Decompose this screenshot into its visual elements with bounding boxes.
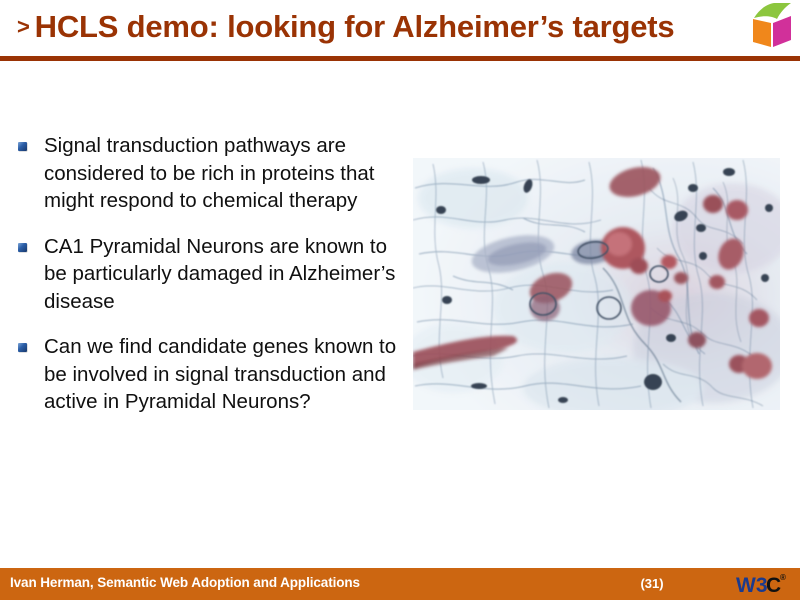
page-number: (31): [630, 576, 674, 591]
list-item: Signal transduction pathways are conside…: [18, 132, 398, 215]
list-item: CA1 Pyramidal Neurons are known to be pa…: [18, 233, 398, 316]
w3c-cube-logo: [750, 2, 794, 50]
slide-body: Signal transduction pathways are conside…: [0, 62, 800, 562]
slide-header: >HCLS demo: looking for Alzheimer’s targ…: [0, 0, 800, 62]
page-title: >HCLS demo: looking for Alzheimer’s targ…: [17, 7, 674, 47]
blue-square-bullet-icon: [18, 142, 27, 151]
svg-text:C: C: [766, 574, 781, 597]
blue-square-bullet-icon: [18, 243, 27, 252]
footer-author-text: Ivan Herman, Semantic Web Adoption and A…: [10, 575, 360, 590]
title-divider: [0, 56, 800, 61]
list-item: Can we find candidate genes known to be …: [18, 333, 398, 416]
blue-square-bullet-icon: [18, 343, 27, 352]
title-text: HCLS demo: looking for Alzheimer’s targe…: [35, 9, 675, 44]
brain-tissue-micrograph: [413, 158, 780, 410]
svg-text:W3: W3: [736, 574, 768, 597]
slide-footer: Ivan Herman, Semantic Web Adoption and A…: [0, 568, 800, 600]
list-item-text: CA1 Pyramidal Neurons are known to be pa…: [44, 233, 398, 316]
bullet-list: Signal transduction pathways are conside…: [18, 132, 398, 434]
w3c-wordmark-logo: W3 C ®: [736, 570, 792, 598]
title-chevron-icon: >: [17, 14, 30, 39]
list-item-text: Signal transduction pathways are conside…: [44, 132, 398, 215]
svg-text:®: ®: [780, 573, 786, 582]
list-item-text: Can we find candidate genes known to be …: [44, 333, 398, 416]
